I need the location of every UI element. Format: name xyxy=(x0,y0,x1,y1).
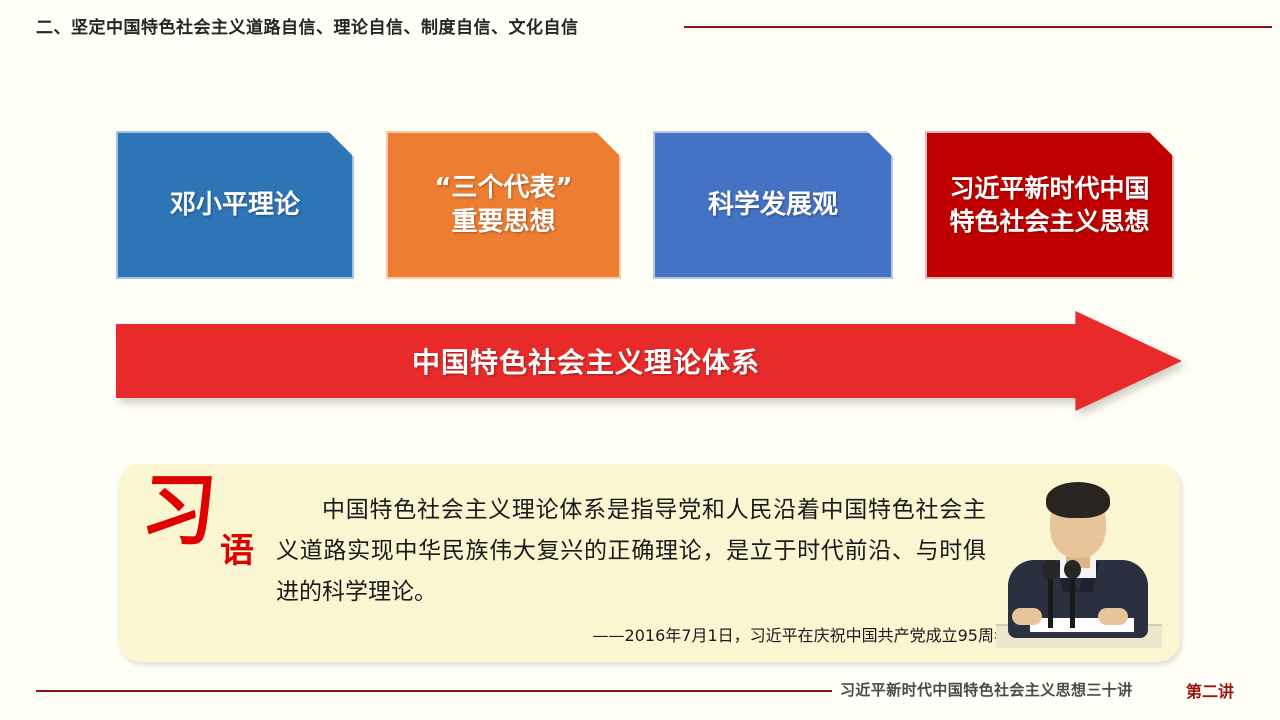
portrait-hair xyxy=(1046,482,1110,518)
seal-logo-primary-glyph: 习 xyxy=(139,472,220,550)
xi-yu-seal-logo: 习 语 xyxy=(138,480,268,592)
stage-box-label: 科学发展观 xyxy=(698,188,848,222)
footer-lesson-number: 第二讲 xyxy=(1186,678,1234,702)
quote-card: 习 语 中国特色社会主义理论体系是指导党和人民沿着中国特色社会主义道路实现中华民… xyxy=(118,464,1180,662)
microphone-icon-right xyxy=(1070,572,1075,628)
stage-box-label: 邓小平理论 xyxy=(160,188,310,222)
stage-box-label-line1: “三个代表” xyxy=(434,173,572,203)
stage-box-label-line1: 习近平新时代中国 xyxy=(949,174,1149,203)
stage-box-label-line2: 重要思想 xyxy=(451,207,555,237)
portrait-hand-left xyxy=(1012,608,1042,625)
quote-text: 中国特色社会主义理论体系是指导党和人民沿着中国特色社会主义道路实现中华民族伟大复… xyxy=(276,490,986,613)
speaker-portrait-photo xyxy=(978,472,1178,660)
footer-series-title: 习近平新时代中国特色社会主义思想三十讲 xyxy=(840,679,1133,700)
stage-box-scientific-outlook[interactable]: 科学发展观 xyxy=(653,131,893,279)
footer-divider-rule xyxy=(36,690,832,692)
stage-box-label: “三个代表” 重要思想 xyxy=(424,171,582,240)
arrow-banner-label: 中国特色社会主义理论体系 xyxy=(116,311,1056,411)
theory-system-arrow-banner[interactable]: 中国特色社会主义理论体系 xyxy=(116,311,1182,411)
portrait-hand-right xyxy=(1098,608,1128,625)
stage-box-deng-xiaoping-theory[interactable]: 邓小平理论 xyxy=(116,131,354,279)
stage-box-xi-jinping-thought[interactable]: 习近平新时代中国 特色社会主义思想 xyxy=(925,131,1174,279)
stage-box-three-represents[interactable]: “三个代表” 重要思想 xyxy=(386,131,621,279)
seal-logo-secondary-glyph: 语 xyxy=(220,534,254,568)
microphone-icon-left xyxy=(1048,572,1053,628)
stage-box-label-line2: 特色社会主义思想 xyxy=(949,207,1149,236)
stage-box-label: 习近平新时代中国 特色社会主义思想 xyxy=(939,172,1159,238)
